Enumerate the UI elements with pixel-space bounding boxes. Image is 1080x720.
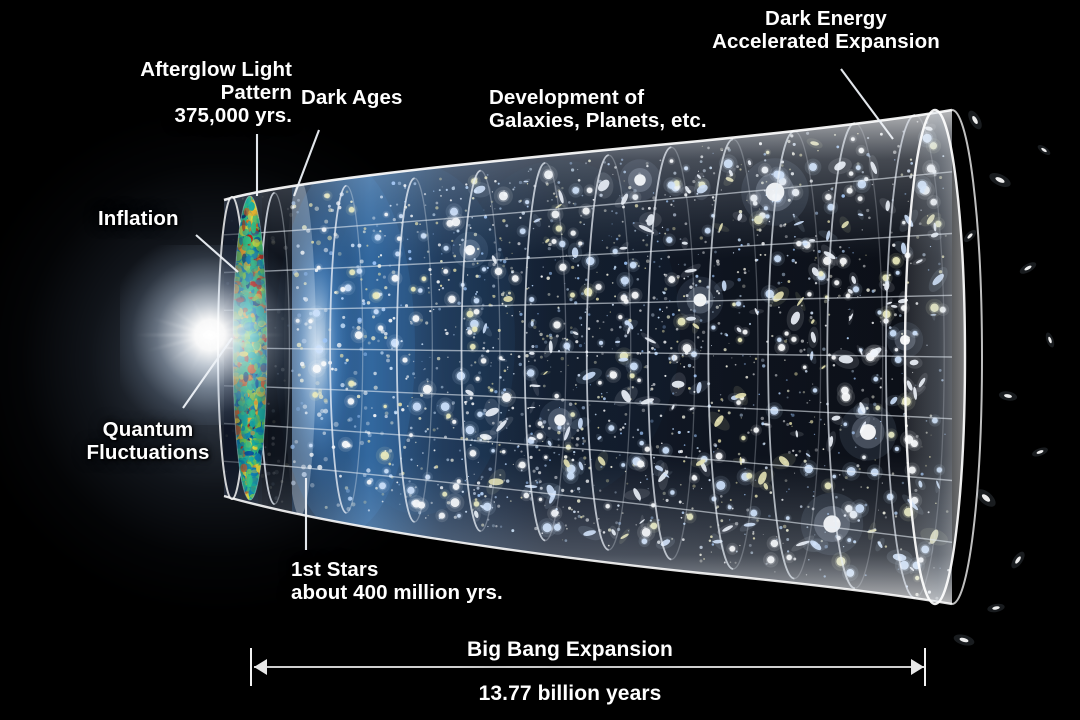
label-dark-ages: Dark Ages xyxy=(301,86,403,109)
label-first-stars: 1st Stars about 400 million yrs. xyxy=(291,558,503,604)
label-inflation: Inflation xyxy=(98,207,179,230)
leader-inflation xyxy=(196,235,238,272)
label-afterglow-light-pattern: Afterglow Light Pattern 375,000 yrs. xyxy=(92,58,292,127)
measure-line xyxy=(254,666,924,668)
universe-timeline-figure: Afterglow Light Pattern 375,000 yrs. Inf… xyxy=(0,0,1080,720)
measure-arrowhead-right xyxy=(911,659,924,675)
label-duration-years: 13.77 billion years xyxy=(390,682,750,706)
measure-tick-left xyxy=(250,648,252,686)
leader-dark-ages xyxy=(294,130,319,196)
measure-arrowhead-left xyxy=(254,659,267,675)
label-development-of-galaxies: Development of Galaxies, Planets, etc. xyxy=(489,86,707,132)
leader-dark-energy xyxy=(841,69,893,139)
label-big-bang-expansion: Big Bang Expansion xyxy=(390,638,750,662)
label-dark-energy: Dark Energy Accelerated Expansion xyxy=(700,7,952,53)
label-quantum-fluctuations: Quantum Fluctuations xyxy=(68,418,228,464)
measure-tick-right xyxy=(924,648,926,686)
